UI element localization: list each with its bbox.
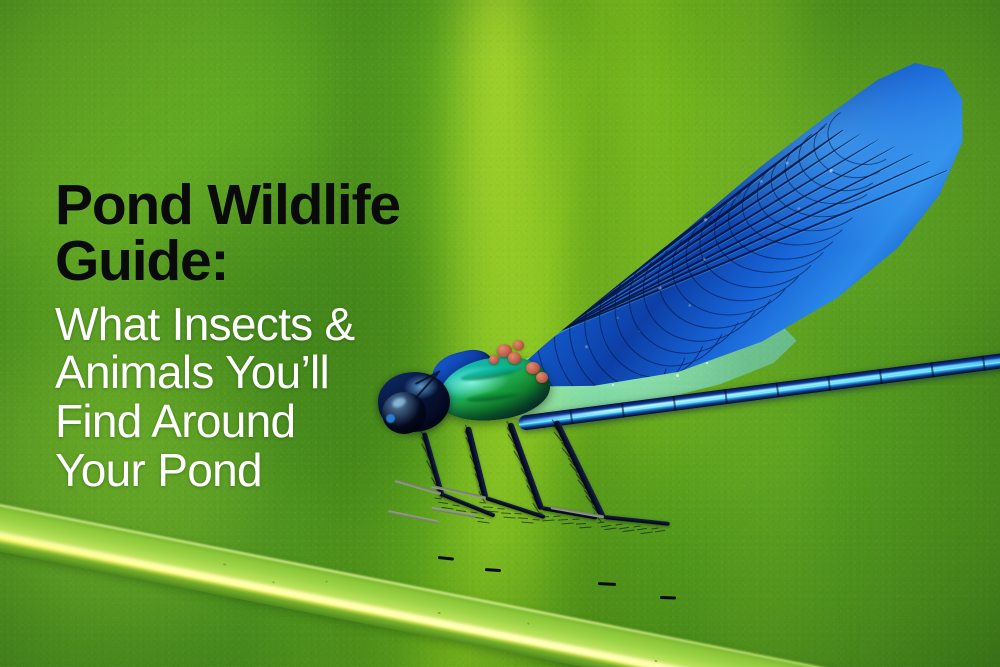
damselfly-tarsus [660,596,676,599]
leg-bristle [483,506,493,508]
leg-bristle [637,528,647,530]
wing-sparkle [617,317,619,319]
leg-bristle [622,530,634,533]
leg-bristle [477,521,489,524]
leg-bristle [501,512,511,514]
wing-sparkle [626,269,629,272]
wing-sparkle [760,180,763,183]
leg-bristle [615,523,622,525]
leg-bristle [572,519,579,520]
leg-bristle [597,522,604,524]
leg-bristle [504,516,516,518]
leg-bristle [479,502,486,503]
leg-bristle [518,518,528,520]
leg-bristle [619,527,629,529]
damselfly-leg-segment [604,515,670,526]
wing-sparkle [689,304,691,306]
leg-bristle [522,522,534,524]
wing-sparkle [659,287,662,290]
page-title: Pond Wildlife Guide: [55,178,575,290]
damselfly-tarsus [598,582,616,586]
leg-bristle [434,498,441,500]
wing-sparkle [680,228,681,229]
damselfly-tarsus [485,568,501,572]
leg-bristle [533,519,540,520]
wing-sparkle [830,169,833,172]
leg-bristle [633,525,640,527]
leg-bristle [576,523,586,525]
leg-bristle [554,516,561,517]
wing-sparkle [595,291,597,293]
leg-bristle [604,528,616,531]
wing-sparkle [798,207,800,209]
damselfly-leg-segment [388,510,439,524]
leg-bristle [497,508,504,509]
wing-sparkle [703,258,705,260]
leg-bristle [601,525,611,527]
leg-bristle [452,505,459,507]
page-subtitle: What Insects & Animals You’ll Find Aroun… [55,300,575,495]
leg-bristle [515,513,522,514]
leg-bristle [557,519,567,521]
damselfly-tarsus [438,556,454,560]
leg-bristle [651,527,658,529]
leg-bristle [655,530,665,532]
leg-bristle [640,532,652,535]
leg-bristle [561,523,573,525]
leg-bristle [543,520,555,522]
leg-bristle [580,526,592,528]
wing-sparkle [648,255,651,258]
leg-bristle [438,502,448,504]
hero-banner: Pond Wildlife Guide: What Insects & Anim… [0,0,1000,667]
hero-copy: Pond Wildlife Guide: What Insects & Anim… [55,178,575,495]
